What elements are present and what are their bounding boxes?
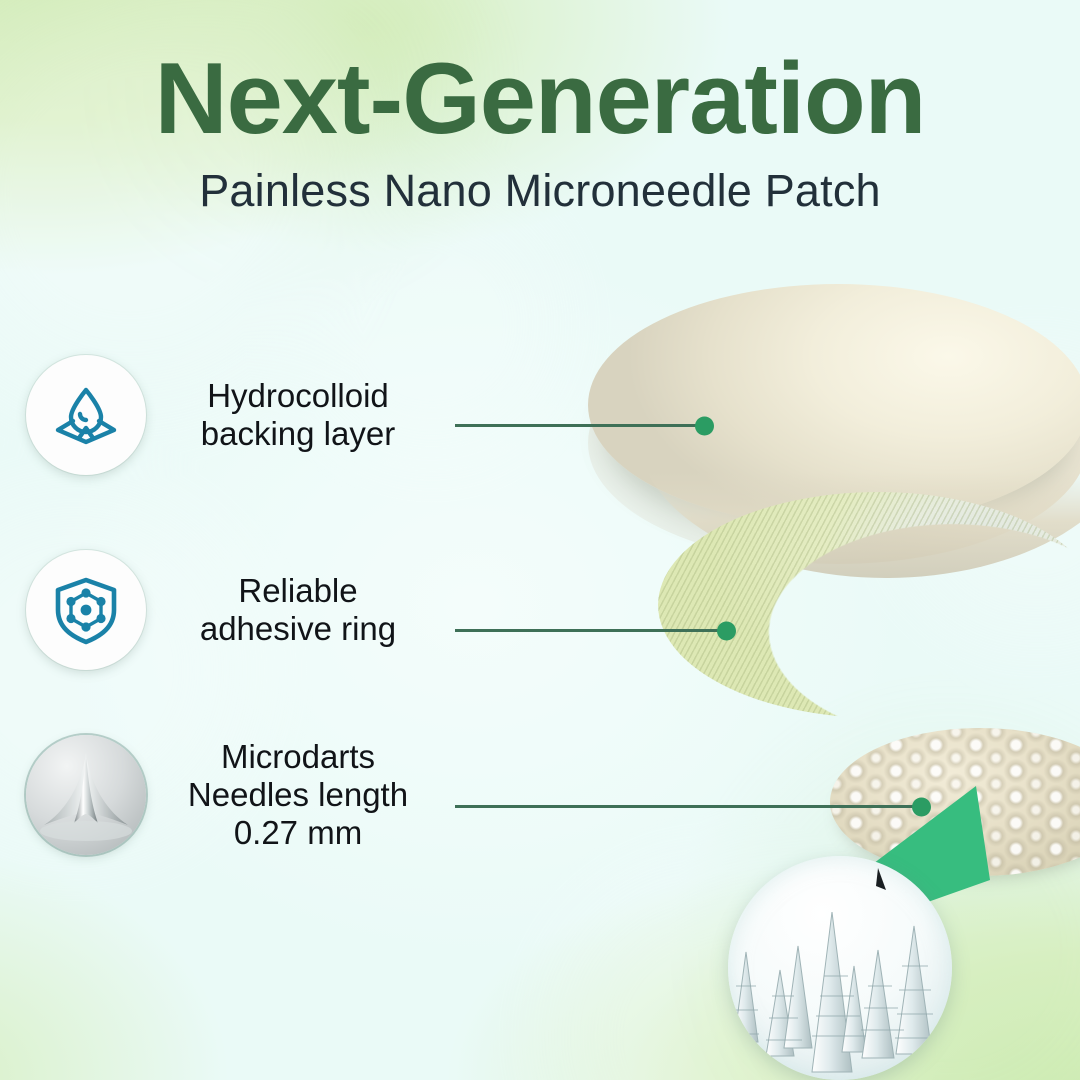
feature-hydrocolloid: Hydrocolloid backing layer: [0, 355, 428, 475]
shield-molecule-icon: [26, 550, 146, 670]
leader-line-backing: [455, 424, 705, 427]
hydrocolloid-backing-layer: [588, 284, 1080, 526]
microneedle-spike-icon: [26, 735, 146, 855]
leader-dot-adhesive: [717, 621, 736, 640]
feature-label-hydrocolloid: Hydrocolloid backing layer: [168, 377, 428, 454]
page-title: Next-Generation: [0, 48, 1080, 151]
leader-dot-microdarts: [912, 797, 931, 816]
header: Next-Generation Painless Nano Microneedl…: [0, 48, 1080, 217]
leader-line-adhesive: [455, 629, 727, 632]
adhesive-ring-layer: [658, 492, 1080, 718]
feature-adhesive-ring: Reliable adhesive ring: [0, 550, 428, 670]
feature-label-adhesive-ring: Reliable adhesive ring: [168, 572, 428, 649]
product-exploded-view: [540, 270, 1080, 890]
feature-label-microdarts: Microdarts Needles length 0.27 mm: [168, 738, 428, 853]
leader-dot-backing: [695, 416, 714, 435]
microneedle-closeup-bubble: [728, 856, 952, 1080]
page-subtitle: Painless Nano Microneedle Patch: [0, 165, 1080, 217]
droplet-on-layer-icon: [26, 355, 146, 475]
feature-microdarts: Microdarts Needles length 0.27 mm: [0, 735, 428, 855]
leader-line-microdarts: [455, 805, 922, 808]
